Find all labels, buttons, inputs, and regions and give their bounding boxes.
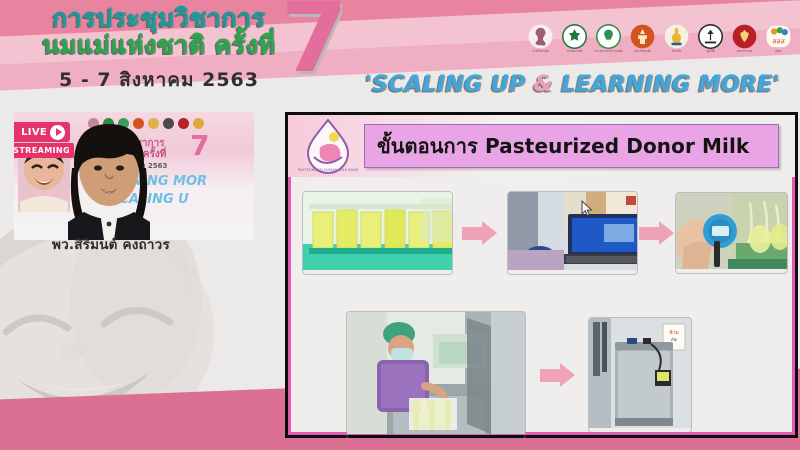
arrow-step1-to-step2 (453, 221, 506, 245)
organizer-logo-0-caption: ราชวิทยาลัย (532, 50, 549, 53)
poster-edition-number: 7 (190, 132, 209, 160)
thaihealth-sss-logo-icon: สสส (766, 24, 791, 49)
conference-title-line1: การประชุมวิชาการ (24, 4, 294, 32)
process-row-bottom: ห้าม เปิด (346, 311, 786, 439)
conference-title-block: การประชุมวิชาการ นมแม่แห่งชาติ ครั้งที่ … (24, 4, 294, 95)
organizer-logo-1: กรมอนามัย (561, 24, 588, 58)
arrow-step4-to-step5 (526, 363, 588, 387)
step-pasteurizer-machine[interactable]: ห้าม เปิด (588, 317, 692, 433)
digital-timer-image (676, 193, 788, 269)
conference-header: การประชุมวิชาการ นมแม่แห่งชาติ ครั้งที่ … (0, 0, 800, 112)
black-seal-logo-icon (698, 24, 723, 49)
svg-text:ห้าม: ห้าม (669, 329, 678, 336)
svg-text:เปิด: เปิด (671, 337, 678, 342)
conference-date: 5 - 7 สิงหาคม 2563 (24, 65, 294, 95)
organizer-logo-2-caption: กระทรวงสาธารณสุข (594, 50, 623, 53)
mouse-cursor (581, 200, 593, 217)
organizer-logo-2: กระทรวงสาธารณสุข (595, 24, 622, 58)
red-seal-logo-icon (732, 24, 757, 49)
slide-heading-banner: ขั้นตอนการ Pasteurized Donor Milk (364, 124, 779, 168)
presenter-video-feed[interactable]: การประชุมวิชาการ นมแม่แห่งชาติ ครั้งที่ … (14, 112, 254, 240)
laptop-records-image (508, 192, 638, 270)
streaming-badge-label: STREAMING (14, 146, 70, 155)
slide-heading-text: ขั้นตอนการ Pasteurized Donor Milk (377, 130, 749, 162)
arrow-step2-to-step3 (638, 221, 675, 245)
organizer-logo-1-caption: กรมอนามัย (567, 50, 583, 53)
step-milk-bottles-rack[interactable] (302, 191, 453, 275)
organizer-logo-4: สถาบัน (663, 24, 690, 58)
organizer-logo-6: สภากาชาด (731, 24, 758, 58)
organizer-logo-5: มูลนิธิ (697, 24, 724, 58)
slide-stage: การประชุมวิชาการ นมแม่แห่งชาติ ครั้งที่ … (0, 0, 800, 450)
university-crest-logo-icon (630, 24, 655, 49)
play-icon (50, 125, 65, 140)
nurse-loading-image (347, 312, 525, 434)
tagline-suffix: LEARNING MORE' (553, 72, 780, 97)
step-digital-timer-thermometer[interactable] (675, 192, 788, 274)
streaming-badge: STREAMING (14, 143, 74, 158)
poster-logo-6-icon (178, 118, 189, 129)
slide-header-area: PASTEURIZED HUMAN MILK BANK ขั้นตอนการ P… (288, 115, 795, 177)
royal-emblem-logo-icon (664, 24, 689, 49)
ministry-public-health-logo-icon (562, 24, 587, 49)
organizer-logo-7: สสส สสส. (765, 24, 792, 58)
poster-logo-5-icon (163, 118, 174, 129)
conference-edition-number: 7 (281, 0, 348, 86)
department-health-logo-icon (596, 24, 621, 49)
conference-title-line2: นมแม่แห่งชาติ ครั้งที่ (24, 31, 294, 60)
presenter-portrait (60, 116, 158, 240)
organizer-logo-5-caption: มูลนิธิ (706, 50, 714, 53)
human-milk-bank-logo-icon: PASTEURIZED HUMAN MILK BANK (298, 117, 358, 175)
slide-panel: PASTEURIZED HUMAN MILK BANK ขั้นตอนการ P… (285, 112, 798, 438)
tagline-ampersand: & (534, 72, 554, 97)
organizer-logo-0: ราชวิทยาลัย (527, 24, 554, 58)
organizer-logo-3-caption: มหาวิทยาลัย (634, 50, 651, 53)
tagline-prefix: 'SCALING UP (365, 72, 534, 97)
live-badge: LIVE (14, 122, 70, 142)
live-badge-label: LIVE (21, 127, 47, 138)
organizer-logo-4-caption: สถาบัน (672, 50, 682, 53)
conference-tagline: 'SCALING UP & LEARNING MORE' (365, 72, 797, 97)
milk-bottles-rack-image (303, 192, 453, 270)
organizer-logo-7-caption: สสส. (775, 50, 782, 53)
organizer-logo-3: มหาวิทยาลัย (629, 24, 656, 58)
poster-logo-7-icon (193, 118, 204, 129)
hmb-logo-caption: PASTEURIZED HUMAN MILK BANK (298, 168, 358, 172)
pasteurizer-machine-image: ห้าม เปิด (589, 318, 691, 428)
svg-text:สสส: สสส (772, 37, 785, 45)
step-laptop-records[interactable] (507, 191, 638, 275)
process-row-top (302, 191, 788, 275)
speaker-name-label: พว.สิริมนต์ คงถาวร (52, 233, 170, 255)
royal-college-logo-icon (528, 24, 553, 49)
step-nurse-loading-pasteurizer[interactable] (346, 311, 526, 439)
organizer-logo-6-caption: สภากาชาด (737, 50, 753, 53)
organizer-logo-strip: ราชวิทยาลัย กรมอนามัย กระทรวงสาธารณสุข (527, 24, 792, 58)
